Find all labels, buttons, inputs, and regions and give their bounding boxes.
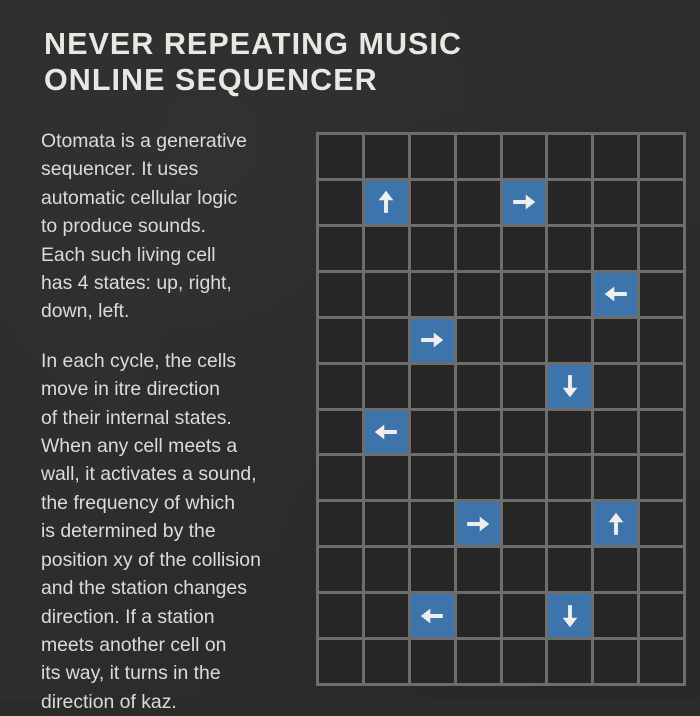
grid-cell-empty[interactable] <box>594 456 637 499</box>
grid-cell-empty[interactable] <box>365 227 408 270</box>
grid-cell-empty[interactable] <box>365 502 408 545</box>
title-line-1: NEVER REPEATING MUSIC <box>44 26 494 62</box>
grid-cell-active[interactable] <box>548 365 591 408</box>
poster-canvas: NEVER REPEATING MUSIC ONLINE SEQUENCER O… <box>0 0 700 700</box>
grid-cell-empty[interactable] <box>457 181 500 224</box>
grid-cell-empty[interactable] <box>319 594 362 637</box>
grid-cell-empty[interactable] <box>640 227 683 270</box>
grid-cell-empty[interactable] <box>594 135 637 178</box>
arrow-down-icon <box>557 373 583 399</box>
grid-cell-empty[interactable] <box>503 365 546 408</box>
grid-cell-empty[interactable] <box>594 227 637 270</box>
grid-cell-active[interactable] <box>503 181 546 224</box>
grid-cell-empty[interactable] <box>411 365 454 408</box>
grid-cell-empty[interactable] <box>640 594 683 637</box>
grid-cell-active[interactable] <box>411 319 454 362</box>
grid-cell-empty[interactable] <box>640 548 683 591</box>
grid-cell-empty[interactable] <box>548 273 591 316</box>
grid-cell-empty[interactable] <box>640 456 683 499</box>
grid-cell-empty[interactable] <box>640 411 683 454</box>
grid-cell-empty[interactable] <box>503 273 546 316</box>
grid-cell-active[interactable] <box>594 502 637 545</box>
grid-cell-empty[interactable] <box>640 181 683 224</box>
grid-cell-active[interactable] <box>365 411 408 454</box>
arrow-up-icon <box>603 511 629 537</box>
grid-cell-empty[interactable] <box>503 548 546 591</box>
grid-cell-empty[interactable] <box>548 548 591 591</box>
grid-cell-active[interactable] <box>365 181 408 224</box>
grid-cell-empty[interactable] <box>319 411 362 454</box>
grid-cell-empty[interactable] <box>548 227 591 270</box>
grid-cell-empty[interactable] <box>594 548 637 591</box>
grid-cell-empty[interactable] <box>411 640 454 683</box>
grid-cell-empty[interactable] <box>503 411 546 454</box>
grid-cell-empty[interactable] <box>640 640 683 683</box>
grid-cell-active[interactable] <box>594 273 637 316</box>
grid-cell-active[interactable] <box>548 594 591 637</box>
grid-cell-empty[interactable] <box>411 227 454 270</box>
grid-cell-empty[interactable] <box>319 319 362 362</box>
grid-cell-empty[interactable] <box>457 640 500 683</box>
grid-cell-empty[interactable] <box>457 273 500 316</box>
grid-cell-empty[interactable] <box>594 411 637 454</box>
grid-cell-empty[interactable] <box>365 640 408 683</box>
grid-cell-empty[interactable] <box>365 135 408 178</box>
grid-cell-empty[interactable] <box>365 456 408 499</box>
arrow-right-icon <box>419 327 445 353</box>
grid-cell-empty[interactable] <box>365 548 408 591</box>
grid-cell-empty[interactable] <box>594 640 637 683</box>
grid-cell-empty[interactable] <box>503 502 546 545</box>
grid-cell-empty[interactable] <box>548 135 591 178</box>
grid-cell-empty[interactable] <box>319 365 362 408</box>
grid-cell-empty[interactable] <box>457 411 500 454</box>
grid-cell-empty[interactable] <box>457 319 500 362</box>
grid-cell-empty[interactable] <box>411 181 454 224</box>
grid-cell-empty[interactable] <box>594 594 637 637</box>
grid-cell-empty[interactable] <box>319 181 362 224</box>
grid-cell-empty[interactable] <box>548 640 591 683</box>
grid-cell-empty[interactable] <box>594 365 637 408</box>
grid-cell-empty[interactable] <box>319 548 362 591</box>
arrow-up-icon <box>373 189 399 215</box>
arrow-right-icon <box>465 511 491 537</box>
paragraph-1: Otomata is a generative sequencer. It us… <box>41 127 309 326</box>
grid-cell-empty[interactable] <box>640 365 683 408</box>
grid-cell-empty[interactable] <box>640 273 683 316</box>
grid-cell-empty[interactable] <box>594 181 637 224</box>
grid-cell-empty[interactable] <box>319 640 362 683</box>
grid-cell-empty[interactable] <box>365 273 408 316</box>
grid-cell-empty[interactable] <box>503 227 546 270</box>
grid-cell-empty[interactable] <box>365 594 408 637</box>
grid-cell-empty[interactable] <box>457 365 500 408</box>
grid-cell-empty[interactable] <box>411 456 454 499</box>
grid-cell-empty[interactable] <box>503 135 546 178</box>
grid-cell-empty[interactable] <box>548 411 591 454</box>
grid-cell-empty[interactable] <box>594 319 637 362</box>
grid-cell-empty[interactable] <box>411 135 454 178</box>
grid-cell-empty[interactable] <box>640 502 683 545</box>
arrow-left-icon <box>373 419 399 445</box>
sequencer-grid[interactable] <box>316 132 686 686</box>
grid-cell-empty[interactable] <box>640 135 683 178</box>
grid-cell-empty[interactable] <box>411 411 454 454</box>
grid-cell-empty[interactable] <box>365 319 408 362</box>
grid-cell-empty[interactable] <box>548 502 591 545</box>
grid-cell-empty[interactable] <box>548 319 591 362</box>
grid-cell-empty[interactable] <box>503 640 546 683</box>
grid-cell-active[interactable] <box>411 594 454 637</box>
grid-cell-empty[interactable] <box>319 273 362 316</box>
grid-cell-empty[interactable] <box>457 227 500 270</box>
arrow-down-icon <box>557 603 583 629</box>
arrow-left-icon <box>603 281 629 307</box>
grid-cell-empty[interactable] <box>457 548 500 591</box>
grid-cell-empty[interactable] <box>319 456 362 499</box>
arrow-left-icon <box>419 603 445 629</box>
sequencer-grid-panel <box>316 132 686 686</box>
grid-cell-empty[interactable] <box>548 456 591 499</box>
grid-cell-empty[interactable] <box>503 456 546 499</box>
grid-cell-empty[interactable] <box>411 273 454 316</box>
grid-cell-empty[interactable] <box>503 594 546 637</box>
grid-cell-empty[interactable] <box>640 319 683 362</box>
page-title: NEVER REPEATING MUSIC ONLINE SEQUENCER <box>44 26 494 98</box>
grid-cell-empty[interactable] <box>319 135 362 178</box>
title-line-2: ONLINE SEQUENCER <box>44 62 494 98</box>
grid-cell-empty[interactable] <box>411 502 454 545</box>
grid-cell-empty[interactable] <box>457 456 500 499</box>
grid-cell-empty[interactable] <box>319 502 362 545</box>
grid-cell-empty[interactable] <box>503 319 546 362</box>
grid-cell-empty[interactable] <box>365 365 408 408</box>
arrow-right-icon <box>511 189 537 215</box>
paragraph-2: In each cycle, the cells move in itre di… <box>41 347 309 716</box>
grid-cell-active[interactable] <box>457 502 500 545</box>
grid-cell-empty[interactable] <box>411 548 454 591</box>
grid-cell-empty[interactable] <box>319 227 362 270</box>
grid-cell-empty[interactable] <box>457 135 500 178</box>
grid-cell-empty[interactable] <box>457 594 500 637</box>
description-text: Otomata is a generative sequencer. It us… <box>41 127 309 716</box>
grid-cell-empty[interactable] <box>548 181 591 224</box>
